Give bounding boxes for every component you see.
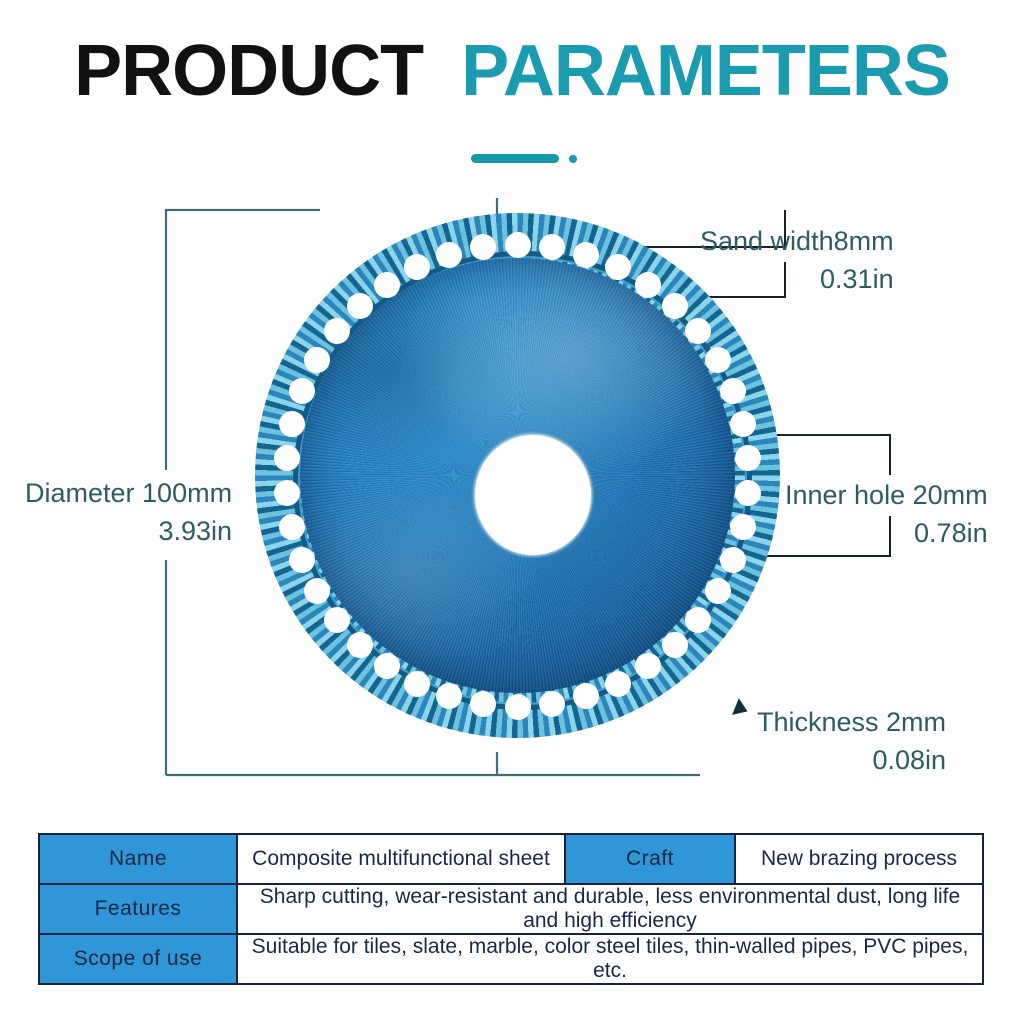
disc-rim-hole [573, 242, 599, 268]
disc-rim-hole [705, 347, 731, 373]
spec-label-features: Features [39, 884, 237, 934]
disc-rim-hole [605, 671, 631, 697]
spec-label-scope: Scope of use [39, 934, 237, 984]
disc-rim-hole [720, 378, 746, 404]
table-row: Features Sharp cutting, wear-resistant a… [39, 884, 983, 934]
disc-rim-hole [685, 607, 711, 633]
disc-rim-hole [324, 607, 350, 633]
disc-rim-hole [505, 694, 531, 720]
disc-rim-hole [705, 578, 731, 604]
spec-value-scope: Suitable for tiles, slate, marble, color… [237, 934, 983, 984]
disc-rim-hole [735, 480, 761, 506]
disc-rim-hole [505, 232, 531, 258]
disc-rim-hole [635, 653, 661, 679]
callout-diameter: Diameter 100mm 3.93in [25, 474, 232, 550]
disc-rim-hole [279, 514, 305, 540]
callout-diameter-sub: 3.93in [25, 512, 232, 550]
disc-rim-hole [539, 234, 565, 260]
callout-inner-hole: Inner hole 20mm 0.78in [785, 476, 988, 552]
callout-sand-width-sub: 0.31in [700, 260, 894, 298]
spec-value-craft: New brazing process [735, 834, 983, 884]
disc-rim-hole [470, 234, 496, 260]
callout-thickness-sub: 0.08in [757, 741, 946, 779]
table-row: Scope of use Suitable for tiles, slate, … [39, 934, 983, 984]
callout-sand-width: Sand width8mm 0.31in [700, 222, 894, 298]
spec-table: Name Composite multifunctional sheet Cra… [38, 833, 984, 985]
disc-rim-hole [662, 293, 688, 319]
product-parameters-page: PRODUCT PARAMETERS Sand width8mm [0, 0, 1024, 1024]
spec-label-craft: Craft [565, 834, 735, 884]
disc-rim-hole [605, 254, 631, 280]
table-row: Name Composite multifunctional sheet Cra… [39, 834, 983, 884]
spec-value-features: Sharp cutting, wear-resistant and durabl… [237, 884, 983, 934]
disc-rim-hole [720, 547, 746, 573]
disc-rim-hole [374, 272, 400, 298]
spec-value-name: Composite multifunctional sheet [237, 834, 565, 884]
callout-inner-hole-sub: 0.78in [785, 514, 988, 552]
disc-rim-hole [274, 480, 300, 506]
callout-sand-width-label: Sand width8mm [700, 226, 894, 256]
disc-rim-hole [470, 691, 496, 717]
disc-rim-hole [735, 445, 761, 471]
disc-rim-hole [635, 272, 661, 298]
callout-inner-hole-label: Inner hole 20mm [785, 480, 988, 510]
disc-rim-hole [730, 514, 756, 540]
disc-rim-hole [539, 691, 565, 717]
callout-thickness-label: Thickness 2mm [757, 707, 946, 737]
disc-center-hole [475, 435, 591, 555]
disc-rim-hole [404, 671, 430, 697]
callout-thickness: Thickness 2mm 0.08in [757, 703, 946, 779]
callout-diameter-label: Diameter 100mm [25, 478, 232, 508]
disc-rim-hole [436, 242, 462, 268]
disc-rim-hole [662, 632, 688, 658]
disc-rim-hole [730, 411, 756, 437]
spec-label-name: Name [39, 834, 237, 884]
disc-rim-hole [573, 683, 599, 709]
